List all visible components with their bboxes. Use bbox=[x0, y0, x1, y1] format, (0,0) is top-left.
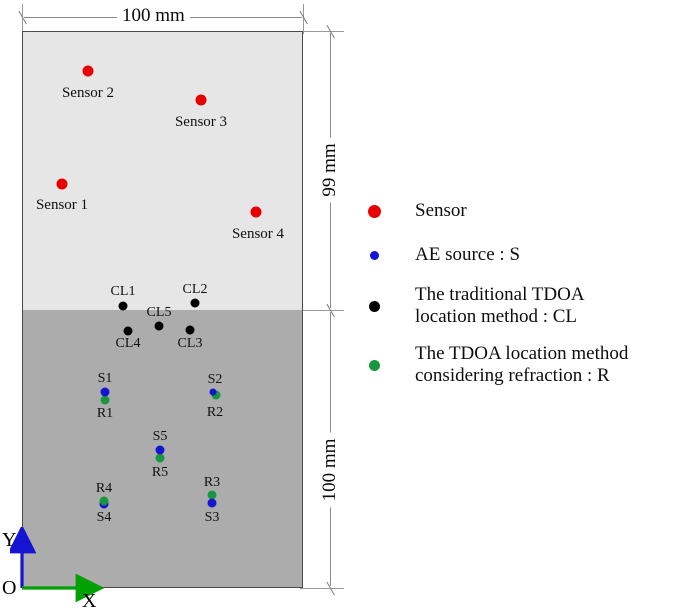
sensor-label-4: Sensor 4 bbox=[232, 227, 284, 242]
sensor-point-3 bbox=[196, 95, 207, 106]
axis-label-y: Y bbox=[2, 530, 16, 550]
sensor-point-4 bbox=[251, 207, 262, 218]
cl-label-4: CL4 bbox=[116, 337, 141, 351]
blue-dot-icon bbox=[370, 251, 379, 260]
refraction-point-4 bbox=[100, 497, 109, 506]
dimension-label-width: 100 mm bbox=[117, 5, 190, 27]
sensor-point-1 bbox=[57, 179, 68, 190]
cl-label-2: CL2 bbox=[183, 283, 208, 297]
refraction-label-5: R5 bbox=[152, 466, 168, 480]
sensor-label-1: Sensor 1 bbox=[36, 198, 88, 213]
extension-line-mid-right bbox=[300, 310, 344, 311]
refraction-label-3: R3 bbox=[204, 476, 220, 490]
ae-source-label-3: S3 bbox=[205, 511, 220, 525]
coordinate-axes bbox=[10, 527, 130, 607]
refraction-label-2: R2 bbox=[207, 406, 223, 420]
cl-point-5 bbox=[155, 322, 164, 331]
dimension-label-upper-height: 99 mm bbox=[319, 137, 341, 202]
legend-label-traditional-tdoa: The traditional TDOA location method : C… bbox=[415, 284, 585, 329]
figure-canvas: 100 mm 99 mm 100 mm Sensor 1 Sensor 2 Se… bbox=[0, 0, 675, 610]
refraction-label-4: R4 bbox=[96, 482, 112, 496]
cl-label-1: CL1 bbox=[111, 285, 136, 299]
legend: Sensor AE source : S The traditional TDO… bbox=[362, 196, 667, 402]
ae-source-point-3 bbox=[208, 499, 217, 508]
legend-item-ae-source: AE source : S bbox=[362, 240, 667, 270]
sensor-label-2: Sensor 2 bbox=[62, 86, 114, 101]
sensor-point-2 bbox=[83, 66, 94, 77]
cl-point-3 bbox=[186, 326, 195, 335]
legend-label-sensor: Sensor bbox=[415, 200, 467, 222]
ae-source-label-5: S5 bbox=[153, 430, 168, 444]
cl-point-4 bbox=[124, 327, 133, 336]
refraction-label-1: R1 bbox=[97, 407, 113, 421]
refraction-point-1 bbox=[101, 396, 110, 405]
ae-source-point-5 bbox=[156, 446, 165, 455]
dimension-label-lower-height: 100 mm bbox=[319, 433, 341, 508]
green-dot-icon bbox=[369, 360, 380, 371]
axis-label-x: X bbox=[82, 591, 96, 610]
legend-item-sensor: Sensor bbox=[362, 196, 667, 226]
axis-label-origin: O bbox=[2, 578, 16, 598]
cl-label-3: CL3 bbox=[178, 337, 203, 351]
legend-label-ae-source: AE source : S bbox=[415, 244, 520, 266]
legend-label-refraction-tdoa: The TDOA location method considering ref… bbox=[415, 343, 628, 388]
cl-point-1 bbox=[119, 302, 128, 311]
refraction-point-5 bbox=[156, 454, 165, 463]
ae-source-label-2: S2 bbox=[208, 373, 223, 387]
red-dot-icon bbox=[368, 205, 381, 218]
extension-line-bottom-right bbox=[300, 588, 344, 589]
black-dot-icon bbox=[369, 301, 380, 312]
cl-point-2 bbox=[191, 299, 200, 308]
sensor-label-3: Sensor 3 bbox=[175, 115, 227, 130]
ae-source-label-4: S4 bbox=[97, 511, 112, 525]
ae-source-label-1: S1 bbox=[98, 372, 113, 386]
ae-source-point-1 bbox=[101, 388, 110, 397]
upper-layer-region bbox=[23, 32, 302, 310]
extension-line-top-right bbox=[300, 31, 344, 32]
ae-source-point-2 bbox=[210, 389, 217, 396]
cl-label-5: CL5 bbox=[147, 306, 172, 320]
legend-item-traditional-tdoa: The traditional TDOA location method : C… bbox=[362, 284, 667, 329]
legend-item-refraction-tdoa: The TDOA location method considering ref… bbox=[362, 343, 667, 388]
